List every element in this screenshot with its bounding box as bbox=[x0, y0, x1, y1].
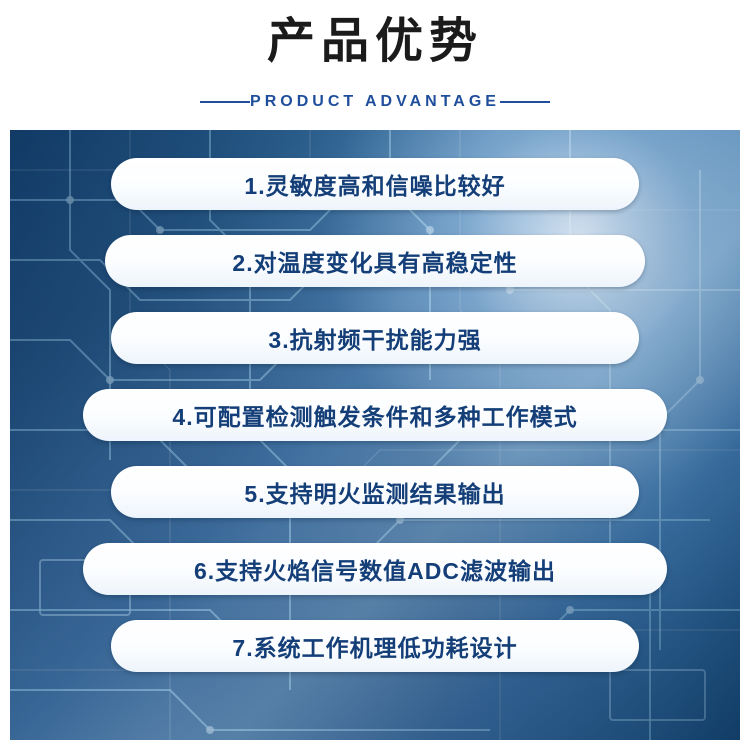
list-item-label: 7.系统工作机理低功耗设计 bbox=[232, 629, 517, 663]
list-item-label: 5.支持明火监测结果输出 bbox=[244, 475, 505, 509]
subtitle-row: PRODUCT ADVANTAGE bbox=[0, 88, 750, 116]
advantage-panel: 1.灵敏度高和信噪比较好 2.对温度变化具有高稳定性 3.抗射频干扰能力强 4.… bbox=[10, 130, 740, 740]
product-advantage-page: 产品优势 PRODUCT ADVANTAGE bbox=[0, 0, 750, 751]
page-header: 产品优势 PRODUCT ADVANTAGE bbox=[0, 0, 750, 130]
list-item-label: 1.灵敏度高和信噪比较好 bbox=[244, 167, 505, 201]
list-item-label: 6.支持火焰信号数值ADC滤波输出 bbox=[194, 552, 556, 586]
list-item: 6.支持火焰信号数值ADC滤波输出 bbox=[83, 543, 667, 595]
list-item-label: 3.抗射频干扰能力强 bbox=[268, 321, 481, 355]
page-subtitle: PRODUCT ADVANTAGE bbox=[0, 88, 750, 116]
list-item-label: 4.可配置检测触发条件和多种工作模式 bbox=[172, 398, 577, 432]
list-item: 2.对温度变化具有高稳定性 bbox=[105, 235, 645, 287]
page-title: 产品优势 bbox=[0, 12, 750, 72]
list-item: 1.灵敏度高和信噪比较好 bbox=[111, 158, 639, 210]
list-item: 7.系统工作机理低功耗设计 bbox=[111, 620, 639, 672]
list-item: 4.可配置检测触发条件和多种工作模式 bbox=[83, 389, 667, 441]
list-item: 3.抗射频干扰能力强 bbox=[111, 312, 639, 364]
advantage-list: 1.灵敏度高和信噪比较好 2.对温度变化具有高稳定性 3.抗射频干扰能力强 4.… bbox=[10, 130, 740, 740]
list-item: 5.支持明火监测结果输出 bbox=[111, 466, 639, 518]
list-item-label: 2.对温度变化具有高稳定性 bbox=[232, 244, 517, 278]
